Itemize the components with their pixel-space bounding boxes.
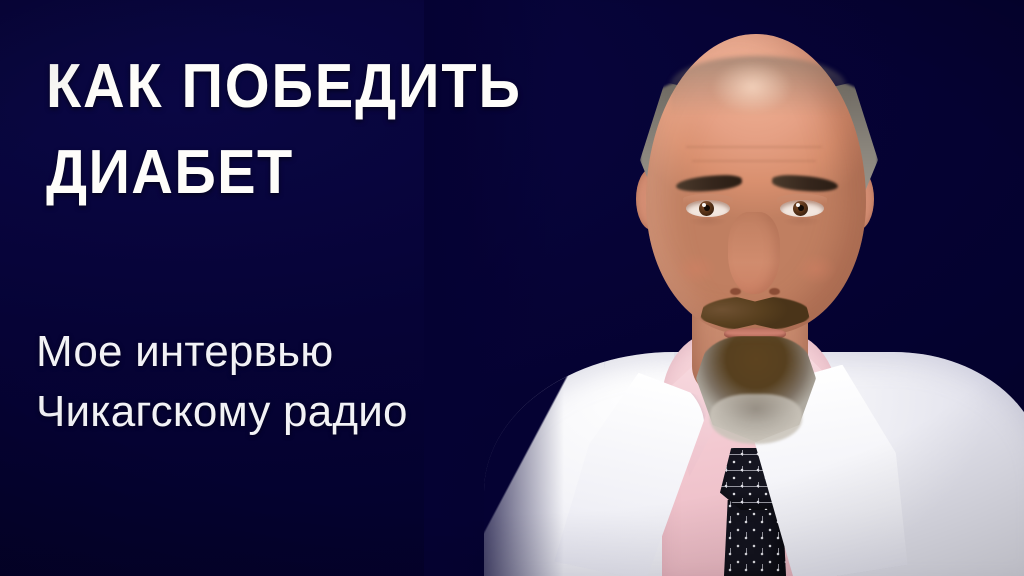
forehead-highlight xyxy=(696,50,808,124)
headline-line-1: КАК ПОБЕДИТЬ xyxy=(46,44,530,130)
text-column: КАК ПОБЕДИТЬ ДИАБЕТ Мое интервью Чикагск… xyxy=(0,0,560,576)
forehead-line xyxy=(686,146,822,148)
beard-grey-tip xyxy=(710,394,802,444)
subtitle: Мое интервью Чикагскому радио xyxy=(36,322,536,442)
under-eye-right xyxy=(776,218,828,232)
nostril-left xyxy=(730,288,741,295)
eyelid-right xyxy=(777,194,827,204)
under-eye-left xyxy=(682,218,734,232)
cheek-left xyxy=(668,248,724,290)
subtitle-line-1: Мое интервью xyxy=(36,322,536,382)
headline-line-2: ДИАБЕТ xyxy=(46,130,530,216)
headline: КАК ПОБЕДИТЬ ДИАБЕТ xyxy=(46,44,530,216)
cheek-right xyxy=(788,248,844,290)
eyelid-left xyxy=(683,194,733,204)
nostril-right xyxy=(769,288,780,295)
nose xyxy=(728,212,780,294)
slide-canvas: КАК ПОБЕДИТЬ ДИАБЕТ Мое интервью Чикагск… xyxy=(0,0,1024,576)
forehead-line xyxy=(692,160,816,162)
subtitle-line-2: Чикагскому радио xyxy=(36,382,536,442)
